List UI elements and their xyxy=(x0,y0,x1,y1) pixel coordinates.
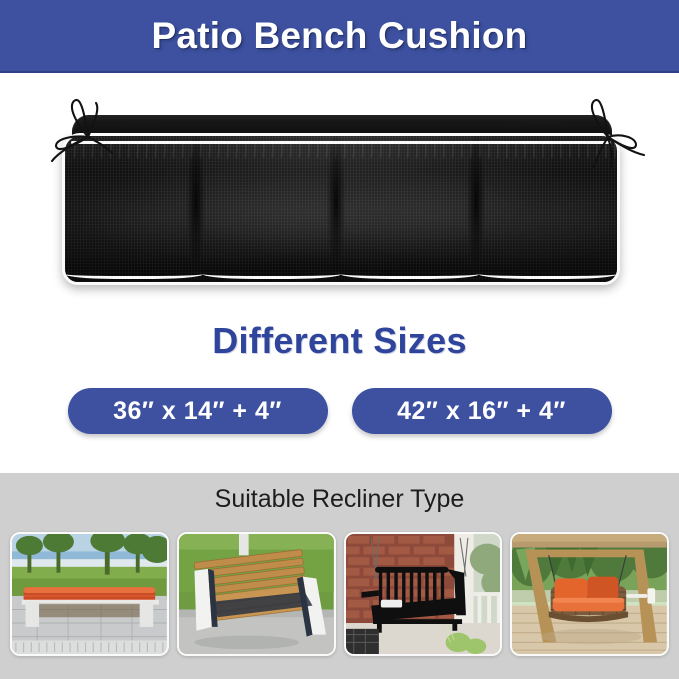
suitable-recliner-section: Suitable Recliner Type xyxy=(0,473,679,679)
thumbnail-black-porch-swing[interactable] xyxy=(344,532,503,656)
cushion-bottom-piping xyxy=(65,265,617,279)
cushion-tuft-seam xyxy=(323,136,349,282)
size-options-group: 36″ x 14″ + 4″ 42″ x 16″ + 4″ xyxy=(0,388,679,434)
cushion-tie-bow-icon xyxy=(38,93,134,177)
suitable-recliner-heading: Suitable Recliner Type xyxy=(0,485,679,514)
product-hero-image xyxy=(0,73,679,318)
suitable-recliner-thumbnails xyxy=(10,532,669,656)
cushion-tuft-seam xyxy=(463,136,489,282)
cushion-top-piping xyxy=(71,141,611,144)
thumbnail-wooden-slat-bench[interactable] xyxy=(177,532,336,656)
cushion-illustration xyxy=(0,73,679,318)
product-infographic: Patio Bench Cushion xyxy=(0,0,679,679)
cushion-tie-bow-icon xyxy=(562,93,658,177)
size-option-pill[interactable]: 36″ x 14″ + 4″ xyxy=(68,388,328,434)
cushion-tuft-seam xyxy=(183,136,209,282)
thumbnail-wicker-swing-orange-cushion[interactable] xyxy=(510,532,669,656)
cushion-seat-body xyxy=(62,133,620,285)
header-banner: Patio Bench Cushion xyxy=(0,0,679,73)
thumbnail-park-bench-orange-top[interactable] xyxy=(10,532,169,656)
page-title: Patio Bench Cushion xyxy=(152,15,528,57)
different-sizes-heading: Different Sizes xyxy=(0,320,679,362)
size-option-pill[interactable]: 42″ x 16″ + 4″ xyxy=(352,388,612,434)
